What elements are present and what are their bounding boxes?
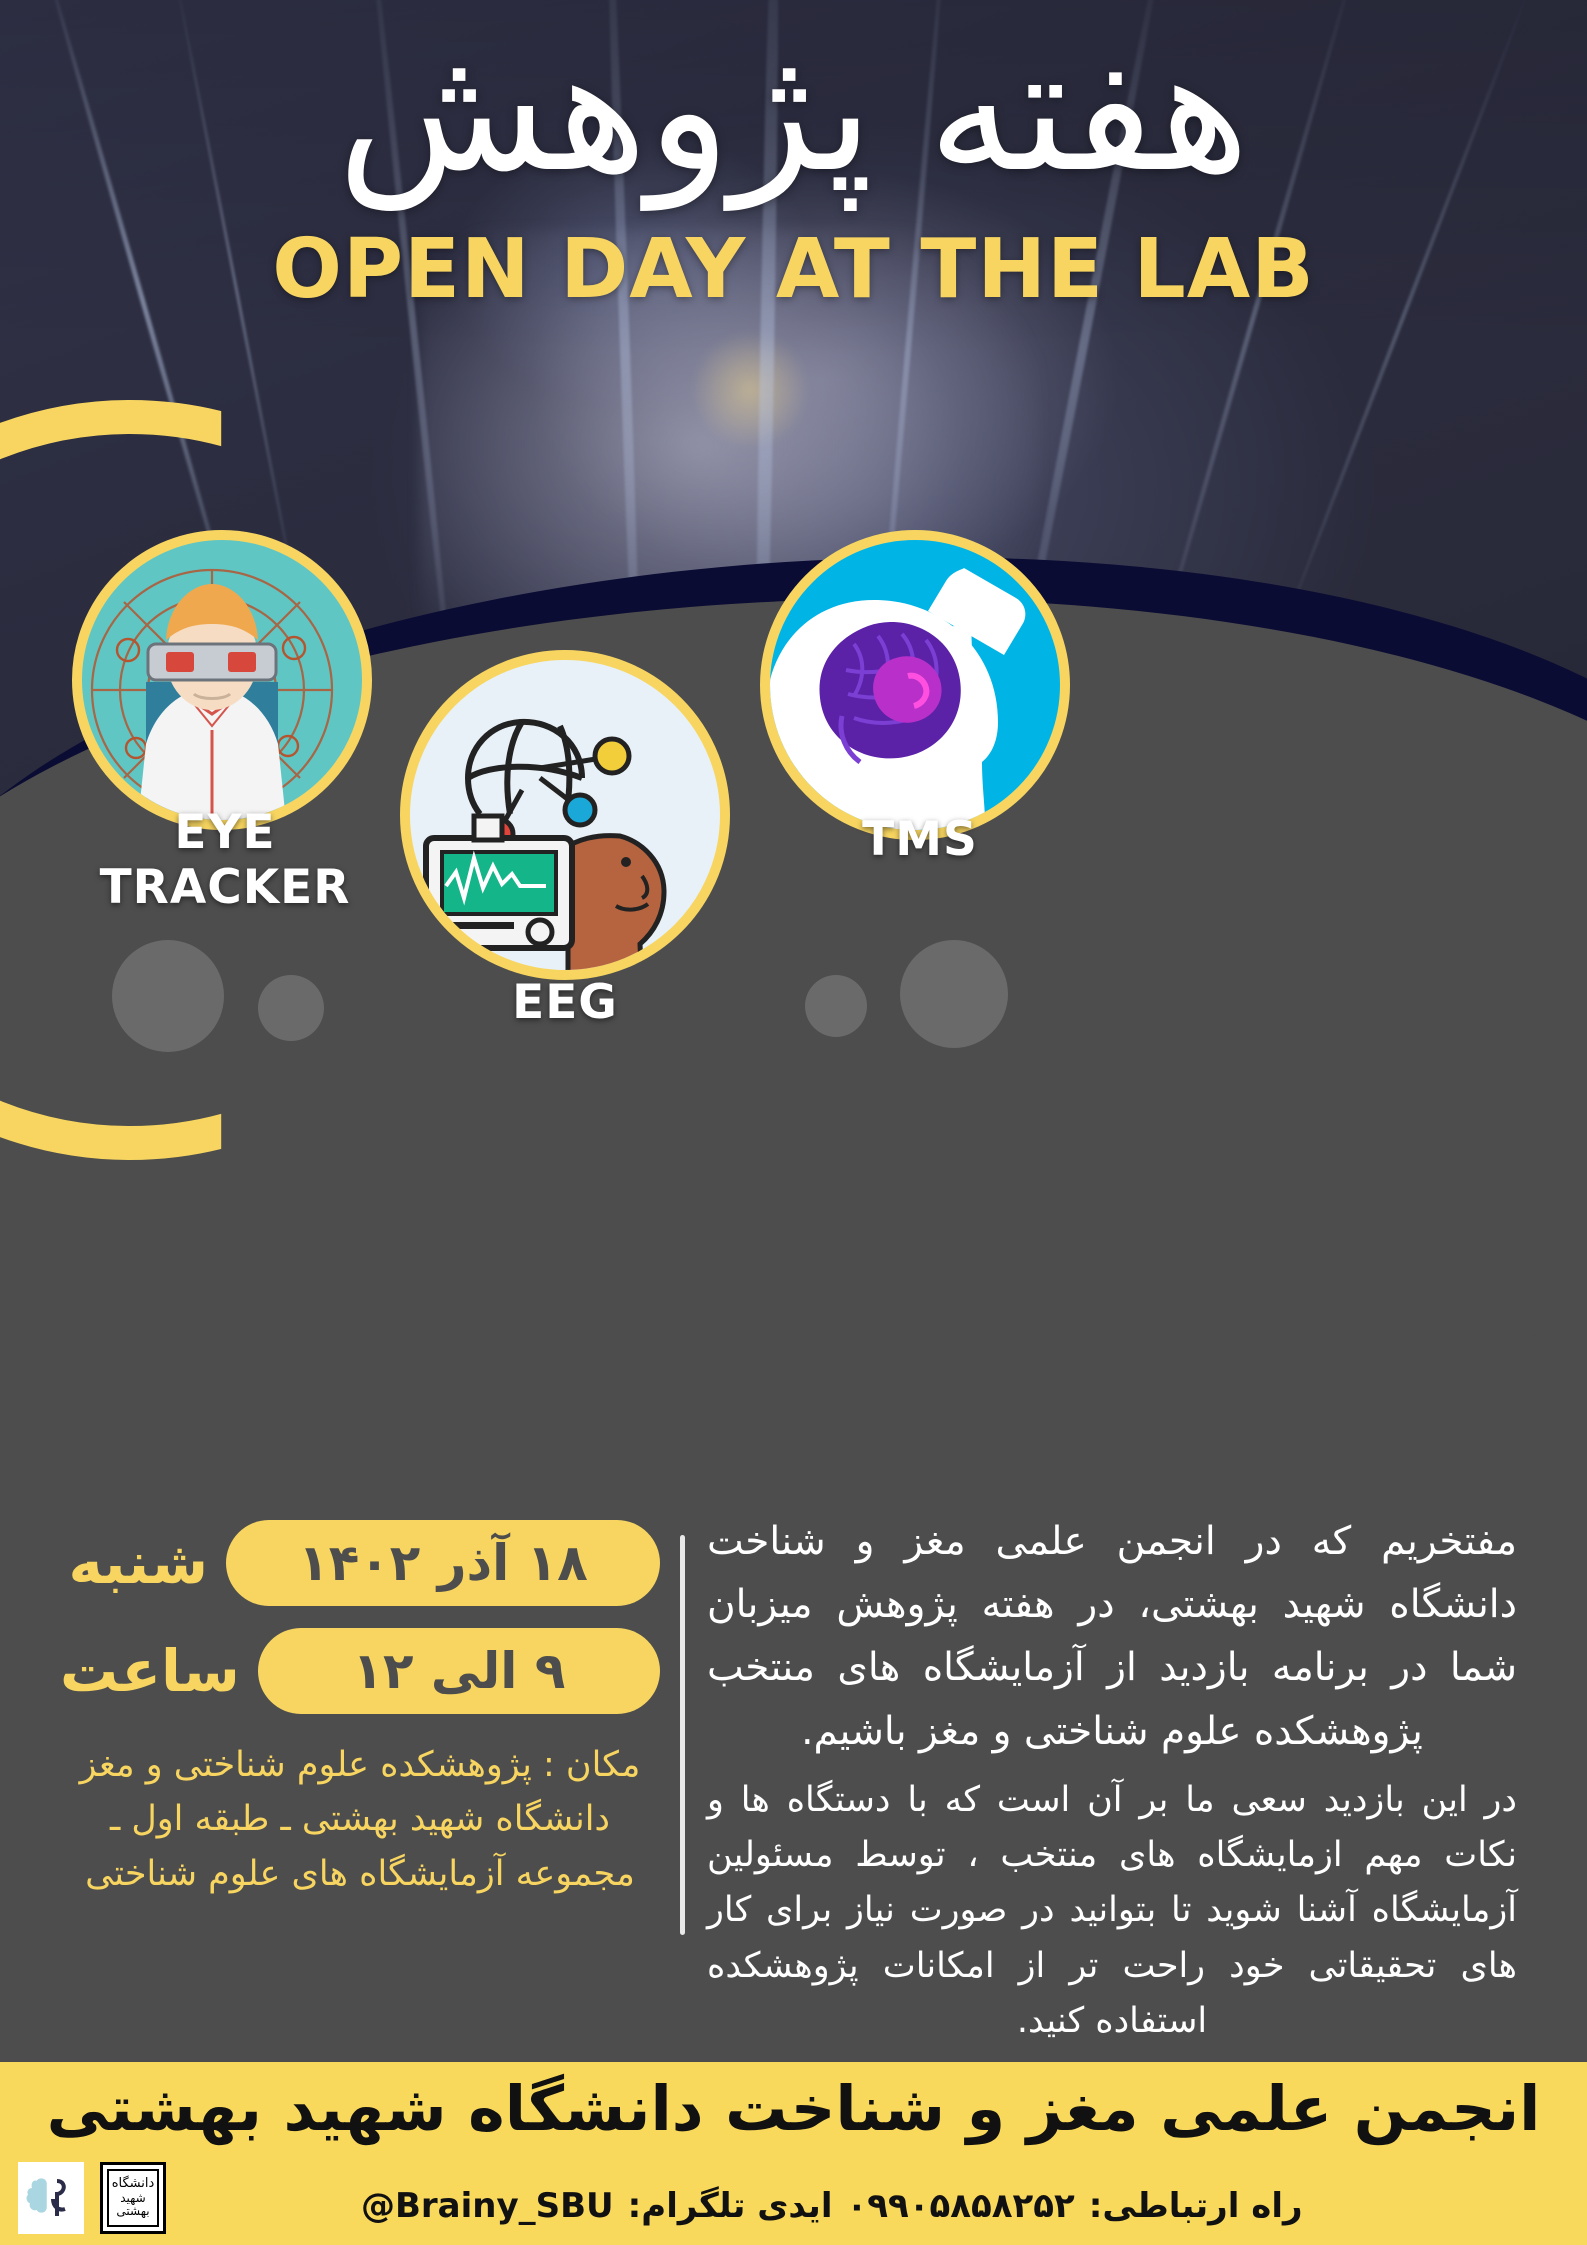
decorative-circle [112, 940, 224, 1052]
device-circle-eeg [400, 650, 730, 980]
sbu-logo-icon: دانشگاه شهید بهشتی [107, 2169, 159, 2227]
poster-root: هفته پژوهش OPEN DAY AT THE LAB [0, 0, 1587, 2245]
device-label-eye-tracker: EYE TRACKER [60, 805, 390, 915]
event-day-label: شنبه [60, 1529, 208, 1597]
telegram-handle[interactable]: @Brainy_SBU [361, 2186, 614, 2226]
event-time-label: ساعت [60, 1637, 240, 1705]
decorative-circle [805, 975, 867, 1037]
svg-text:دانشگاه: دانشگاه [112, 2175, 155, 2191]
event-date-pill: ۱۸ آذر ۱۴۰۲ [226, 1520, 660, 1606]
sbu-university-logo: دانشگاه شهید بهشتی [100, 2162, 166, 2234]
footer-organization-title: انجمن علمی مغز و شناخت دانشگاه شهید بهشت… [0, 2072, 1587, 2145]
description-paragraph-2: در این بازدید سعی ما بر آن است که با دست… [707, 1773, 1517, 2049]
decorative-circle [900, 940, 1008, 1048]
eye-tracker-icon [72, 540, 362, 830]
event-venue-text: مکان : پژوهشکده علوم شناختی و مغز دانشگا… [60, 1738, 660, 1901]
decorative-circle [258, 975, 324, 1041]
tms-icon [760, 540, 1060, 840]
device-circle-eye-tracker [72, 530, 372, 830]
event-time-row: ۹ الی ۱۲ ساعت [60, 1628, 660, 1714]
page-title-fa: هفته پژوهش [0, 20, 1587, 201]
footer-contact-line: راه ارتباطی:۰۹۹۰۵۸۵۸۲۵۲ایدی تلگرام:@Brai… [347, 2186, 1547, 2226]
contact-label: راه ارتباطی: [1089, 2186, 1303, 2226]
event-date-row: ۱۸ آذر ۱۴۰۲ شنبه [60, 1520, 660, 1606]
page-title-en: OPEN DAY AT THE LAB [0, 222, 1587, 317]
svg-text:شهید: شهید [120, 2191, 146, 2205]
svg-text:بهشتی: بهشتی [116, 2204, 149, 2218]
event-details-panel: ۱۸ آذر ۱۴۰۲ شنبه ۹ الی ۱۲ ساعت مکان : پژ… [60, 1520, 660, 1901]
event-time-pill: ۹ الی ۱۲ [258, 1628, 660, 1714]
description-paragraph-1: مفتخریم که در انجمن علمی مغز و شناخت دان… [707, 1510, 1517, 1763]
device-label-eeg: EEG [400, 975, 730, 1030]
vertical-divider [680, 1535, 685, 1935]
device-circle-tms [760, 530, 1070, 840]
contact-phone: ۰۹۹۰۵۸۵۸۲۵۲ [846, 2186, 1074, 2226]
brain-logo-icon [23, 2169, 79, 2227]
device-label-tms: TMS [770, 812, 1070, 867]
brain-association-logo [18, 2162, 84, 2234]
telegram-label: ایدی تلگرام: [628, 2186, 833, 2226]
footer-logos: دانشگاه شهید بهشتی [18, 2162, 166, 2234]
description-panel: مفتخریم که در انجمن علمی مغز و شناخت دان… [707, 1510, 1517, 2049]
eeg-icon [400, 660, 720, 980]
neuron-highlight-glow [690, 330, 810, 450]
